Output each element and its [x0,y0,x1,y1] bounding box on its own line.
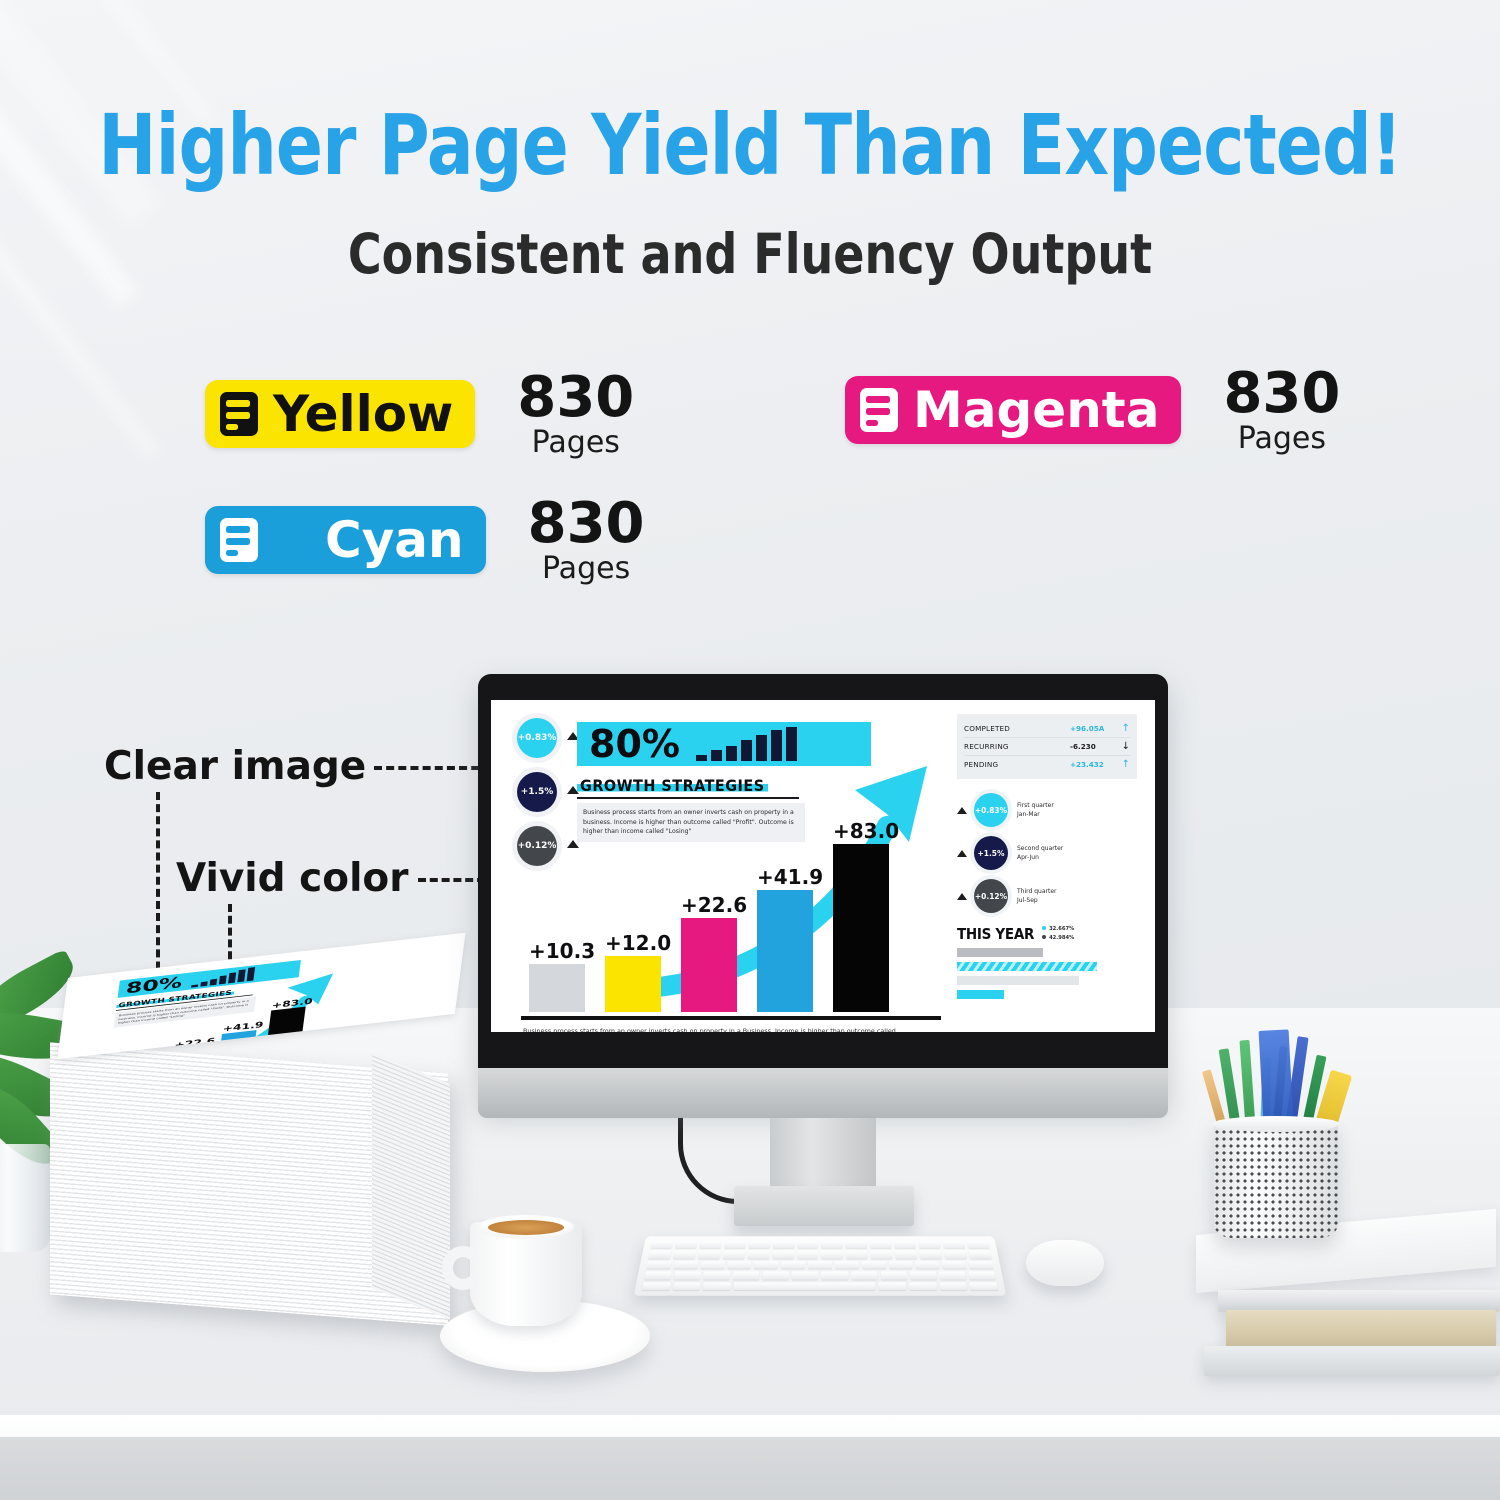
keyboard-row [644,1272,996,1280]
paper-stack-side [372,1052,450,1320]
cartridge-name: Magenta [913,385,1159,435]
bar-item: +41.9 [757,867,823,1012]
bar-value: +12.0 [605,933,671,953]
callout-clear-image: Clear image [104,744,366,789]
pages-label: Pages [517,428,634,458]
keyboard-row [650,1241,989,1248]
coffee-liquid [488,1220,564,1235]
triangle-up-icon [957,893,967,900]
pencil-cup-mesh [1214,1122,1338,1238]
paper-stack: 80% GROWTH STRATEGIES Business process s… [42,972,482,1332]
cartridge-name: Cyan [325,515,464,565]
table-row: PENDING +23.432 ↑ [964,755,1130,773]
toner-cartridge-icon [219,517,259,563]
this-year-legend: 32.667% 42.984% [1042,925,1074,943]
stat-label: PENDING [964,760,1070,769]
bar-item: +12.0 [605,933,671,1012]
pages-label: Pages [1223,424,1340,454]
quarter-title: First quarter [1017,801,1054,810]
pencil-cup-rim [1212,1116,1340,1132]
pages-count: 830 [517,370,634,426]
quarter-text: Second quarter Apr-Jun [1017,844,1063,862]
book [1204,1346,1500,1376]
this-year-title: THIS YEAR [957,925,1034,943]
bar-rect [681,918,737,1012]
book-stack [1218,1238,1500,1398]
mouse[interactable] [1026,1240,1104,1286]
cup-handle [442,1246,484,1290]
pages-label: Pages [528,554,645,584]
bar-rect [529,964,585,1012]
keyboard[interactable] [634,1236,1007,1295]
pages-count: 830 [528,496,645,552]
stat-value: -6.230 [1070,742,1116,751]
toner-cartridge-icon [859,387,899,433]
desktop-monitor: +0.83% +1.5% +0.12% 80% GROWTH STRATEGIE… [478,674,1168,1106]
quarter-text: First quarter Jan-Mar [1017,801,1054,819]
chart-caption: Business process starts from an owner in… [523,1026,923,1032]
left-badge-q2: +1.5% [517,772,557,812]
this-year-bar [957,962,1097,971]
arrow-down-icon: ↓ [1116,741,1130,752]
cartridge-badge-cyan: Cyan [205,506,486,574]
list-item: +0.83% First quarter Jan-Mar [957,793,1137,827]
bar-value: +10.3 [529,941,595,961]
arrow-up-icon: ↑ [1116,723,1130,734]
bar-value: +83.0 [833,821,899,841]
quarter-text: Third quarter Jul-Sep [1017,887,1056,905]
this-year-bar [957,976,1079,985]
this-year-bar [957,948,1043,957]
pencil-cup [1206,1078,1346,1238]
quarter-list: +0.83% First quarter Jan-Mar +1.5% Secon… [957,793,1137,913]
keyboard-row [642,1282,998,1290]
stat-value: +96.05A [1070,724,1116,733]
stat-value: +23.432 [1070,760,1116,769]
left-badge-q1: +0.83% [517,718,557,758]
list-item: +1.5% Second quarter Apr-Jun [957,836,1137,870]
screen-right-panel: COMPLETED +96.05A ↑ RECURRING -6.230 ↓ P… [957,714,1137,999]
this-year-bar [957,990,1004,999]
bar-value: +22.6 [681,895,747,915]
bar-item: +22.6 [681,895,747,1012]
bar-rect [757,890,813,1012]
quarter-period: Jan-Mar [1017,810,1054,819]
cartridge-row-magenta: Magenta 830 Pages [845,366,1340,454]
coffee-cup [470,1222,582,1326]
quarter-value: +0.12% [974,879,1008,913]
cartridge-yield-magenta: 830 Pages [1223,366,1340,454]
cartridge-badge-magenta: Magenta [845,376,1181,444]
chart-baseline [521,1016,941,1020]
quarter-title: Third quarter [1017,887,1056,896]
bar-chart: +10.3 +12.0 +22.6 +41.9 [529,840,929,1016]
monitor-chin [478,1068,1168,1118]
bar-item: +10.3 [529,941,595,1012]
screen-infographic: +0.83% +1.5% +0.12% 80% GROWTH STRATEGIE… [491,700,1155,1032]
triangle-up-icon [957,850,967,857]
triangle-up-icon [957,807,967,814]
quarter-period: Jul-Sep [1017,896,1056,905]
monitor-stand-neck [770,1118,876,1190]
book [1226,1310,1496,1350]
table-row: RECURRING -6.230 ↓ [964,737,1130,755]
cartridge-yield-yellow: 830 Pages [517,370,634,458]
list-item: +0.12% Third quarter Jul-Sep [957,879,1137,913]
keyboard-row [648,1251,991,1258]
sheet-bar: +41.9 [216,1020,264,1059]
stat-label: COMPLETED [964,724,1070,733]
page-title: Higher Page Yield Than Expected! [60,96,1440,194]
quarter-period: Apr-Jun [1017,853,1063,862]
book [1218,1290,1500,1312]
keyboard-row [646,1261,994,1269]
arrow-up-icon: ↑ [1116,759,1130,770]
monitor-screen[interactable]: +0.83% +1.5% +0.12% 80% GROWTH STRATEGIE… [491,700,1155,1032]
legend-entry: 42.984% [1042,934,1074,943]
cartridge-badge-yellow: Yellow [205,380,475,448]
quarter-value: +0.83% [974,793,1008,827]
desk-edge-highlight [0,1415,1500,1437]
cartridge-yield-cyan: 830 Pages [528,496,645,584]
bar-value: +41.9 [757,867,823,887]
scene-root: Higher Page Yield Than Expected! Consist… [0,0,1500,1500]
callout-vivid-color: Vivid color [176,856,408,901]
cartridge-name: Yellow [273,389,453,439]
quarter-title: Second quarter [1017,844,1063,853]
this-year-header: THIS YEAR 32.667% 42.984% [957,925,1137,943]
cartridge-row-yellow: Yellow 830 Pages [205,370,634,458]
stat-label: RECURRING [964,742,1070,751]
table-row: COMPLETED +96.05A ↑ [964,720,1130,737]
quarter-value: +1.5% [974,836,1008,870]
page-subtitle: Consistent and Fluency Output [53,222,1448,286]
toner-cartridge-icon [219,391,259,437]
stats-table: COMPLETED +96.05A ↑ RECURRING -6.230 ↓ P… [957,714,1137,779]
pages-count: 830 [1223,366,1340,422]
legend-entry: 32.667% [1042,925,1074,934]
desk-front-panel [0,1437,1500,1500]
bar-item: +83.0 [833,821,899,1012]
bar-rect [605,956,661,1012]
monitor-stand-foot [734,1186,914,1226]
bar-rect [833,844,889,1012]
cartridge-row-cyan: Cyan 830 Pages [205,496,645,584]
